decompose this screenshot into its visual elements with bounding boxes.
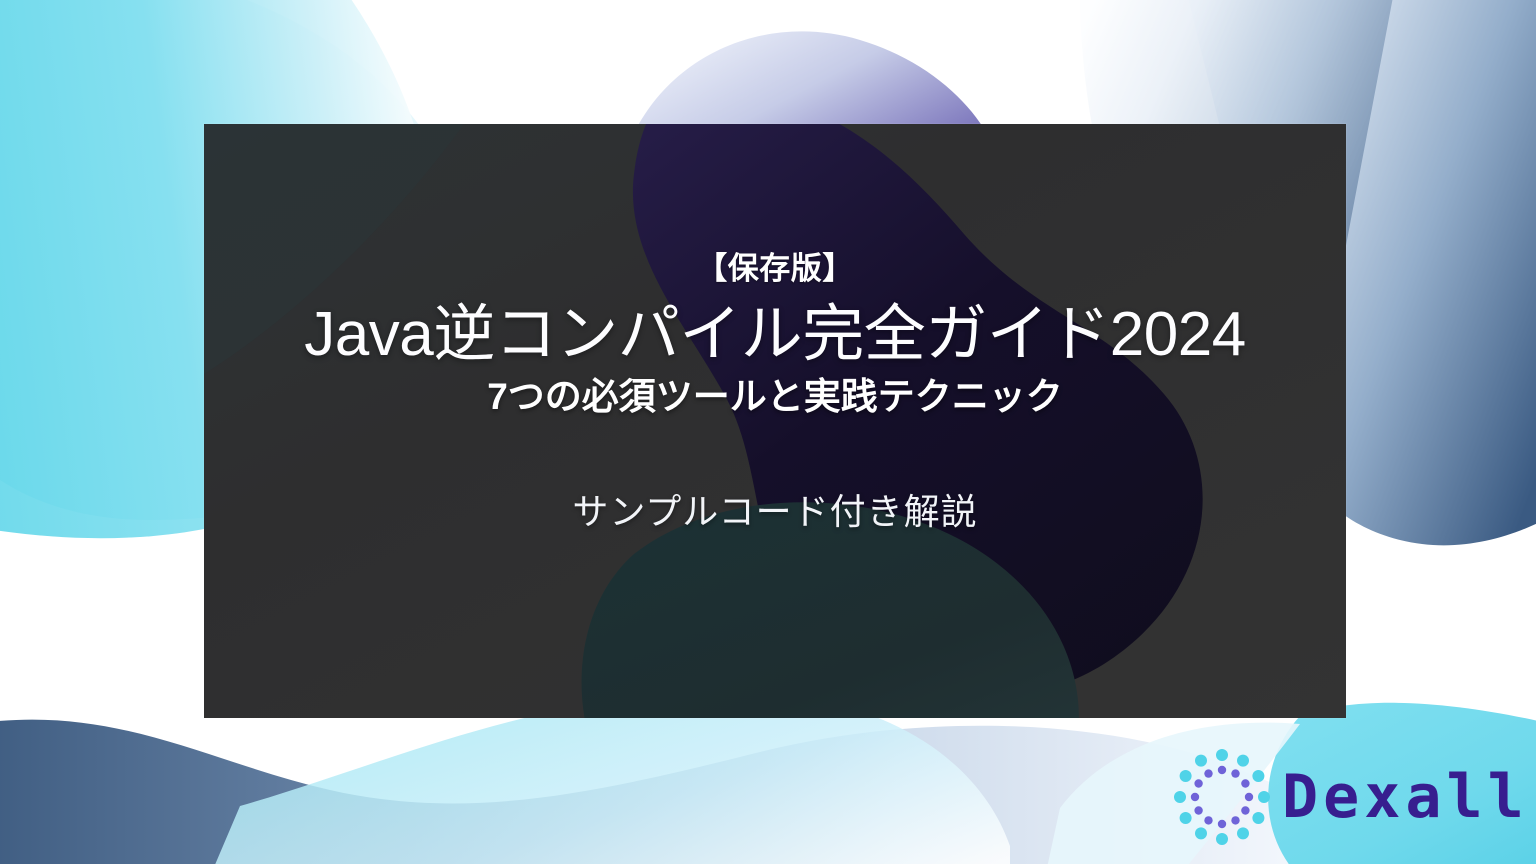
- dotted-circle-icon: [1166, 741, 1278, 853]
- card-text-block: 【保存版】 Java逆コンパイル完全ガイド2024 7つの必須ツールと実践テクニ…: [204, 124, 1346, 718]
- badge-label: 【保存版】: [696, 252, 854, 286]
- page-subtitle: 7つの必須ツールと実践テクニック: [487, 376, 1063, 419]
- slide-canvas: 【保存版】 Java逆コンパイル完全ガイド2024 7つの必須ツールと実践テクニ…: [0, 0, 1536, 864]
- brand-logo[interactable]: Dexall: [1166, 736, 1536, 858]
- title-card: 【保存版】 Java逆コンパイル完全ガイド2024 7つの必須ツールと実践テクニ…: [204, 124, 1346, 718]
- page-tagline: サンプルコード付き解説: [572, 490, 977, 533]
- page-title: Java逆コンパイル完全ガイド2024: [304, 300, 1245, 369]
- brand-name: Dexall: [1282, 767, 1529, 827]
